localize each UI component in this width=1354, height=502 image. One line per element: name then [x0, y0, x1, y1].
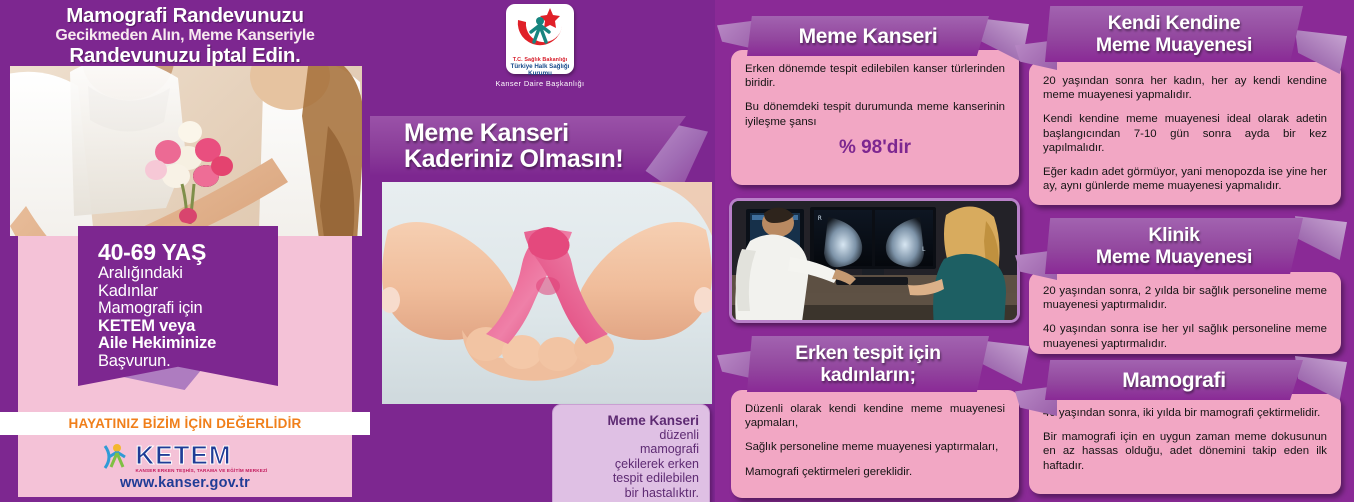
ministry-emblem-icon: [506, 4, 574, 56]
svg-text:R: R: [818, 215, 822, 222]
middle-banner-line-2: Kaderiniz Olmasın!: [404, 146, 686, 172]
callout-line-2: Aralığındaki: [98, 265, 278, 283]
slogan-band: HAYATINIZ BİZİM İÇİN DEĞERLİDİR: [0, 412, 370, 435]
note-line-4: tespit edilebilen: [563, 471, 699, 485]
ketem-figure-icon: [102, 442, 132, 472]
card-paragraph: Mamografi çektirmeleri gereklidir.: [745, 465, 1005, 479]
card-paragraph: Eğer kadın adet görmüyor, yani menopozda…: [1043, 165, 1327, 193]
note-line-3: çekilerek erken: [563, 457, 699, 471]
ketem-brand-text: KETEM: [135, 442, 267, 468]
card-title-text: Kendi Kendine: [1108, 12, 1241, 34]
card-mamografi: 40 yaşından sonra, iki yılda bir mamogra…: [1029, 394, 1341, 494]
headline-line-2: Gecikmeden Alın, Meme Kanseriyle: [55, 26, 314, 45]
card-title-text: Meme Kanseri: [799, 25, 938, 48]
note-title: Meme Kanseri: [563, 413, 699, 428]
card-paragraph: 40 yaşından sonra, iki yılda bir mamogra…: [1043, 406, 1327, 420]
ministry-logo-block: T.C. Sağlık Bakanlığı Türkiye Halk Sağlı…: [475, 4, 605, 88]
slogan-text: HAYATINIZ BİZİM İÇİN DEĞERLİDİR: [69, 416, 302, 431]
left-purple-margin: [0, 236, 18, 502]
note-line-1: düzenli: [563, 428, 699, 442]
card-erken-tespit: Düzenli olarak kendi kendine meme muayen…: [731, 390, 1019, 498]
card-paragraph: 20 yaşından sonra, 2 yılda bir sağlık pe…: [1043, 284, 1327, 312]
card-title-kendi-kendine: Kendi Kendine Meme Muayenesi: [1045, 6, 1303, 62]
ketem-website-url[interactable]: www.kanser.gov.tr: [120, 475, 250, 491]
age-callout: 40-69 YAŞ Aralığındaki Kadınlar Mamograf…: [78, 226, 278, 386]
card-title-erken-tespit: Erken tespit için kadınların;: [747, 336, 989, 392]
callout-line-3: Kadınlar: [98, 283, 278, 301]
ministry-line-3: Kurumu: [506, 70, 574, 77]
card-klinik-meme-muayenesi: 20 yaşından sonra, 2 yılda bir sağlık pe…: [1029, 272, 1341, 354]
card-wing-right-3: [1295, 216, 1347, 260]
card-title-text: Erken tespit için: [795, 342, 941, 364]
callout-age-range: 40-69 YAŞ: [98, 240, 278, 265]
hands-ribbon-photo: [382, 182, 712, 404]
ministry-caption: Kanser Daire Başkanlığı: [475, 79, 605, 88]
card-title-mamografi: Mamografi: [1045, 360, 1303, 400]
card-paragraph: Bir mamografi için en uygun zaman meme d…: [1043, 430, 1327, 473]
card-title-klinik: Klinik Meme Muayenesi: [1045, 218, 1303, 274]
middle-banner-line-1: Meme Kanseri: [404, 120, 686, 146]
ministry-logo-card: T.C. Sağlık Bakanlığı Türkiye Halk Sağlı…: [506, 4, 574, 74]
callout-line-4: Mamografi için: [98, 300, 278, 318]
ministry-line-2: Türkiye Halk Sağlığı: [506, 63, 574, 70]
card-paragraph: Sağlık personeline meme muayenesi yaptır…: [745, 440, 1005, 454]
card-title-text-2: kadınların;: [820, 364, 915, 386]
card-title-text: Mamografi: [1122, 369, 1225, 392]
card-paragraph: 40 yaşından sonra ise her yıl sağlık per…: [1043, 322, 1327, 350]
headline-line-3: Randevunuzu İptal Edin.: [69, 45, 300, 67]
doctor-patient-mammogram-photo: R L: [729, 198, 1020, 323]
card-meme-kanseri: Erken dönemde tespit edilebilen kanser t…: [731, 50, 1019, 185]
left-panel-headline: Mamografi Randevunuzu Gecikmeden Alın, M…: [0, 0, 370, 66]
middle-banner: Meme Kanseri Kaderiniz Olmasın!: [370, 116, 686, 176]
ketem-logo: KETEM KANSER ERKEN TEŞHİS, TARAMA VE EĞİ…: [102, 442, 267, 473]
card-paragraph: 20 yaşından sonra her kadın, her ay kend…: [1043, 74, 1327, 102]
note-line-5: bir hastalıktır.: [563, 486, 699, 500]
card-kendi-kendine-meme-muayenesi: 20 yaşından sonra her kadın, her ay kend…: [1029, 62, 1341, 205]
callout-line-5: KETEM veya: [98, 318, 278, 336]
card-title-text: Klinik: [1148, 224, 1199, 246]
breast-cancer-note-card: Meme Kanseri düzenli mamografi çekilerek…: [552, 404, 710, 502]
right-info-section: Meme Kanseri Erken dönemde tespit edileb…: [715, 0, 1354, 502]
brochure-canvas: Mamografi Randevunuzu Gecikmeden Alın, M…: [0, 0, 1354, 502]
headline-line-1: Mamografi Randevunuzu: [66, 5, 303, 26]
left-brochure-panel: Mamografi Randevunuzu Gecikmeden Alın, M…: [0, 0, 370, 502]
card-paragraph: Düzenli olarak kendi kendine meme muayen…: [745, 402, 1005, 430]
note-line-2: mamografi: [563, 442, 699, 456]
card-title-text-2: Meme Muayenesi: [1096, 34, 1252, 56]
card-paragraph: Erken dönemde tespit edilebilen kanser t…: [745, 62, 1005, 90]
ketem-subtitle: KANSER ERKEN TEŞHİS, TARAMA VE EĞİTİM ME…: [135, 468, 267, 473]
card-paragraph: Bu dönemdeki tespit durumunda meme kanse…: [745, 100, 1005, 128]
right-purple-margin: [352, 236, 370, 502]
callout-line-6: Aile Hekiminize: [98, 335, 278, 353]
card-highlight-stat: % 98'dir: [745, 137, 1005, 159]
card-paragraph: Kendi kendine meme muayenesi ideal olara…: [1043, 112, 1327, 155]
callout-line-7: Başvurun.: [98, 353, 278, 371]
card-title-text-2: Meme Muayenesi: [1096, 246, 1252, 268]
card-title-meme-kanseri: Meme Kanseri: [747, 16, 989, 56]
svg-text:L: L: [922, 246, 926, 253]
ketem-logo-area: KETEM KANSER ERKEN TEŞHİS, TARAMA VE EĞİ…: [18, 435, 352, 497]
